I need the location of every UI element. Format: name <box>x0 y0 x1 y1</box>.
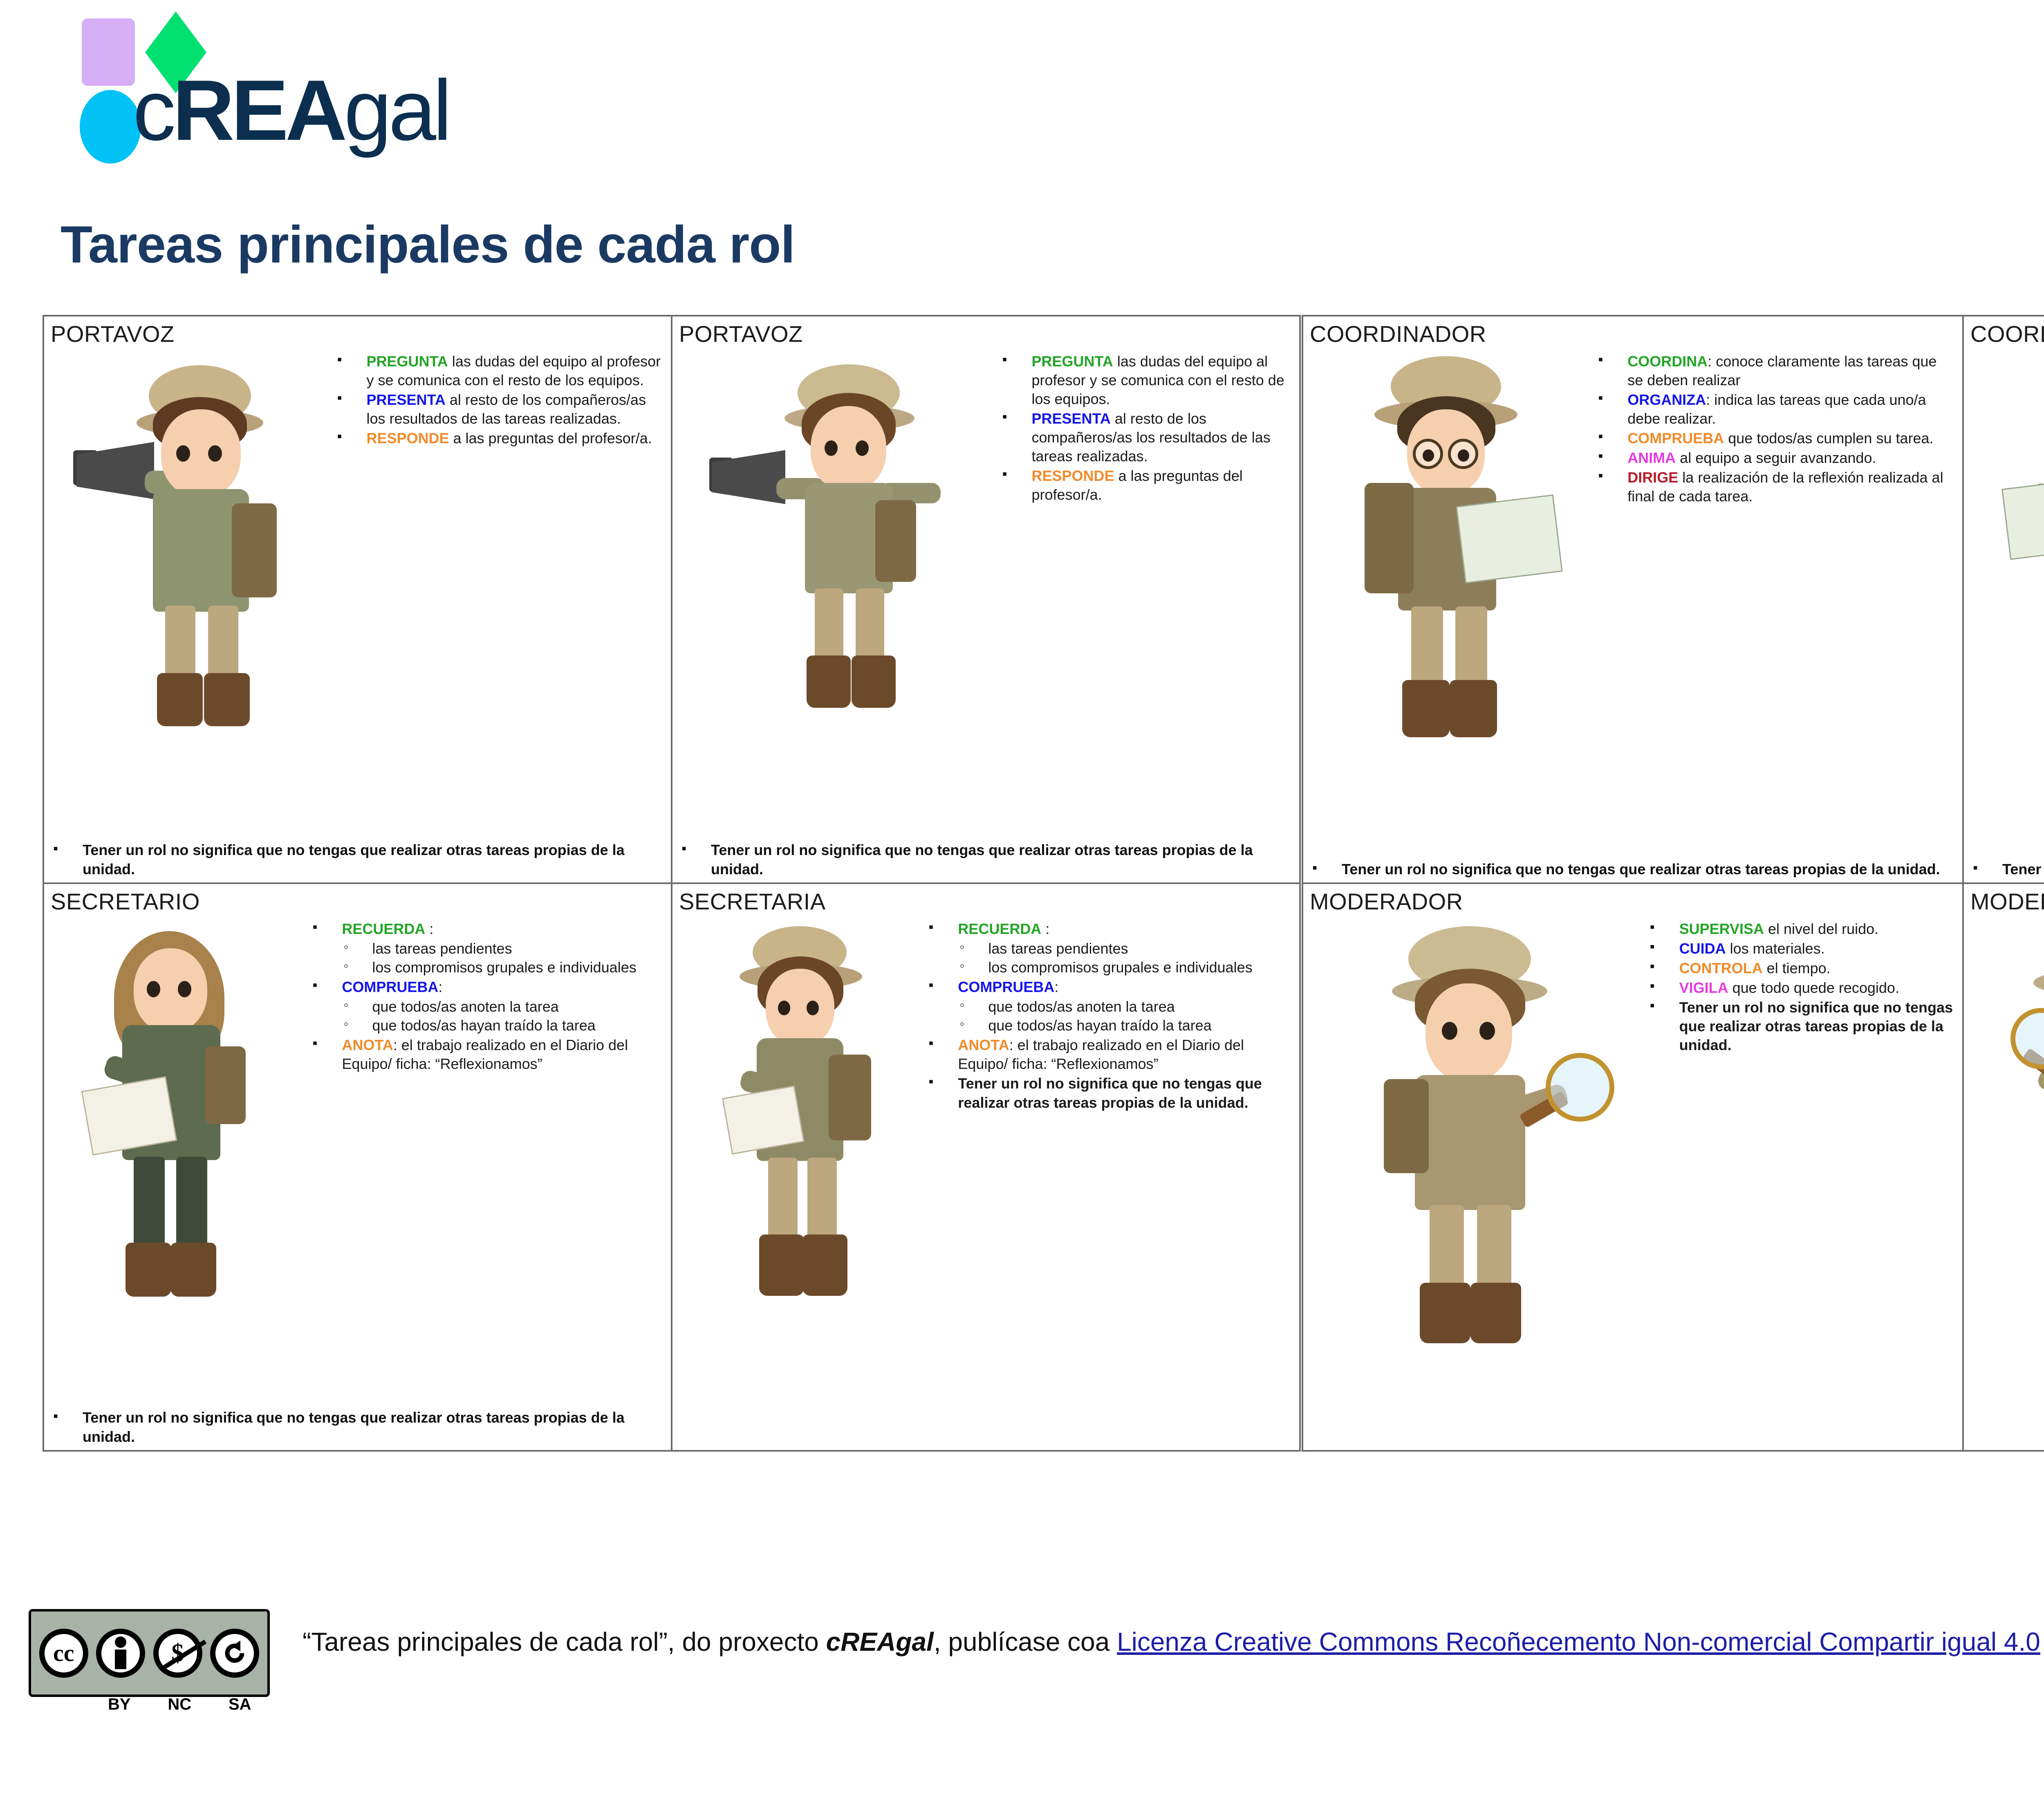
keyword: CUIDA <box>1679 940 1726 957</box>
keyword: ANOTA <box>342 1037 393 1053</box>
cc-label-nc: NC <box>168 1695 191 1714</box>
table-row: PORTAVOZ <box>44 316 1299 882</box>
cc-sublabels: CC BY NC SA <box>29 1695 270 1714</box>
task-text: al equipo a seguir avanzando. <box>1676 449 1876 466</box>
keyword: COMPRUEBA <box>342 979 438 995</box>
character-illustration-coordinadora <box>1970 348 2044 858</box>
role-task-list: RECUERDA : las tareas pendientes los com… <box>310 916 664 1407</box>
creagal-logo: cREAgal <box>61 8 495 127</box>
role-title: SECRETARIO <box>51 890 664 914</box>
by-person-icon <box>96 1629 145 1678</box>
keyword: PRESENTA <box>1032 410 1111 427</box>
role-footnote-inline: Tener un rol no significa que no tengas … <box>1647 998 1956 1055</box>
roles-table-left: PORTAVOZ <box>43 315 1301 1452</box>
list-item: RESPONDE a las preguntas del profesor/a. <box>1000 467 1293 504</box>
role-cell-portavoz-female[interactable]: PORTAVOZ <box>671 316 1299 882</box>
role-footnote-inline: Tener un rol no significa que no tengas … <box>926 1074 1293 1112</box>
role-cell-moderadora[interactable]: MODERADORA <box>1962 884 2044 1450</box>
keyword: ORGANIZA <box>1627 391 1706 408</box>
task-text: que todos/as cumplen su tarea. <box>1724 430 1933 447</box>
list-item: DIRIGE la realización de la reflexión re… <box>1596 468 1956 506</box>
list-item: ANOTA: el trabajo realizado en el Diario… <box>926 1036 1293 1073</box>
role-cell-moderador[interactable]: MODERADOR <box>1303 884 1962 1450</box>
list-item: RESPONDE a las preguntas del profesor/a. <box>334 429 664 448</box>
role-cell-coordinadora[interactable]: COORDINADORA <box>1962 316 2044 882</box>
page-title: Tareas principales de cada rol <box>61 219 795 271</box>
role-cell-secretaria[interactable]: SECRETARIA <box>671 884 1299 1450</box>
keyword: PREGUNTA <box>366 353 448 370</box>
task-text: : <box>1054 979 1058 995</box>
table-row: MODERADOR <box>1303 882 2044 1450</box>
keyword: RECUERDA <box>342 920 425 937</box>
list-item: PRESENTA al resto de los compañeros/as l… <box>1000 409 1293 466</box>
list-item: ORGANIZA: indica las tareas que cada uno… <box>1596 391 1956 428</box>
role-title: MODERADORA <box>1970 890 2044 914</box>
role-title: COORDINADORA <box>1970 322 2044 346</box>
task-text: : <box>1041 920 1049 937</box>
keyword: RECUERDA <box>958 920 1041 937</box>
list-item: PREGUNTA las dudas del equipo al profeso… <box>1000 352 1293 408</box>
sa-sharealike-icon <box>210 1629 259 1678</box>
list-item: RECUERDA : las tareas pendientes los com… <box>310 920 664 977</box>
list-item: los compromisos grupales e individuales <box>958 958 1293 977</box>
cc-icon: cc <box>39 1629 88 1678</box>
role-footnote: Tener un rol no significa que no tengas … <box>51 841 664 879</box>
role-footnote: Tener un rol no significa que no tengas … <box>679 841 1293 879</box>
task-text: a las preguntas del profesor/a. <box>449 430 652 447</box>
list-item: que todos/as hayan traído la tarea <box>342 1016 664 1035</box>
list-item: los compromisos grupales e individuales <box>342 958 664 977</box>
keyword: COORDINA <box>1627 353 1708 370</box>
task-text: : <box>438 979 442 995</box>
keyword: ANOTA <box>958 1037 1009 1053</box>
task-text: los materiales. <box>1726 940 1825 957</box>
logo-square-shape <box>82 18 135 86</box>
list-item: PRESENTA al resto de los compañeros/as l… <box>334 391 664 428</box>
character-illustration-portavoz-female <box>679 348 998 839</box>
license-link[interactable]: Licenza Creative Commons Recoñecemento N… <box>1117 1627 2040 1656</box>
creative-commons-badge: cc $ <box>29 1609 270 1697</box>
list-item: las tareas pendientes <box>958 939 1293 958</box>
list-item: VIGILA que todo quede recogido. <box>1647 979 1956 997</box>
list-item: PREGUNTA las dudas del equipo al profeso… <box>334 352 664 390</box>
list-item: ANOTA: el trabajo realizado en el Diario… <box>310 1036 664 1073</box>
list-item: las tareas pendientes <box>342 939 664 958</box>
task-text: que todo quede recogido. <box>1728 979 1899 996</box>
keyword: PREGUNTA <box>1032 353 1113 370</box>
role-footnote: Tener un rol no significa que no tengas … <box>1310 860 1956 879</box>
keyword: DIRIGE <box>1627 469 1678 486</box>
task-text: : <box>425 920 433 937</box>
list-item: que todos/as anoten la tarea <box>958 997 1293 1016</box>
role-title: SECRETARIA <box>679 890 1293 914</box>
list-item: que todos/as hayan traído la tarea <box>958 1016 1293 1035</box>
character-illustration-moderador <box>1310 916 1646 1447</box>
list-item: SUPERVISA el nivel del ruido. <box>1647 920 1956 938</box>
cc-label-sa: SA <box>229 1695 251 1714</box>
keyword: CONTROLA <box>1679 960 1763 976</box>
character-illustration-coordinador <box>1310 348 1594 858</box>
role-task-list: COORDINA: conoce claramente las tareas q… <box>1596 348 1956 858</box>
task-text: el tiempo. <box>1763 960 1831 976</box>
list-item: CUIDA los materiales. <box>1647 939 1956 958</box>
role-cell-portavoz-male[interactable]: PORTAVOZ <box>44 316 671 882</box>
role-title: COORDINADOR <box>1310 322 1956 346</box>
keyword: SUPERVISA <box>1679 920 1764 937</box>
list-item: COORDINA: conoce claramente las tareas q… <box>1596 352 1956 390</box>
list-item: COMPRUEBA: que todos/as anoten la tarea … <box>926 978 1293 1035</box>
roles-table-right: COORDINADOR <box>1302 315 2044 1452</box>
keyword: PRESENTA <box>366 391 445 408</box>
keyword: RESPONDE <box>1032 467 1114 484</box>
license-statement: “Tareas principales de cada rol”, do pro… <box>303 1625 2044 1658</box>
role-footnote: Tener un rol no significa que no tengas … <box>1970 860 2044 879</box>
role-task-list: SUPERVISA el nivel del ruido. CUIDA los … <box>1647 916 1956 1447</box>
keyword: RESPONDE <box>366 430 449 447</box>
cc-label-by: BY <box>108 1695 131 1714</box>
list-item: que todos/as anoten la tarea <box>342 997 664 1016</box>
character-illustration-portavoz-male <box>51 348 333 839</box>
roles-grid: PORTAVOZ <box>43 315 2044 1452</box>
license-prefix: “Tareas principales de cada rol”, do pro… <box>303 1627 826 1656</box>
logo-wordmark: cREAgal <box>133 67 449 153</box>
keyword: ANIMA <box>1627 449 1676 466</box>
role-footnote: Tener un rol no significa que no tengas … <box>51 1408 664 1447</box>
role-title: PORTAVOZ <box>679 322 1293 346</box>
table-row: SECRETARIO <box>44 882 1299 1450</box>
role-title: PORTAVOZ <box>51 322 664 346</box>
list-item: COMPRUEBA que todos/as cumplen su tarea. <box>1596 429 1956 448</box>
logo-circle-shape <box>80 90 141 164</box>
list-item: COMPRUEBA: que todos/as anoten la tarea … <box>310 978 664 1035</box>
license-mid: , publícase coa <box>934 1627 1117 1656</box>
list-item: ANIMA al equipo a seguir avanzando. <box>1596 449 1956 467</box>
role-cell-coordinador[interactable]: COORDINADOR <box>1303 316 1962 882</box>
role-task-list: PREGUNTA las dudas del equipo al profeso… <box>334 348 664 839</box>
keyword: COMPRUEBA <box>1627 430 1724 447</box>
keyword: VIGILA <box>1679 979 1728 996</box>
task-text: el nivel del ruido. <box>1764 920 1878 937</box>
role-task-list: PREGUNTA las dudas del equipo al profeso… <box>1000 348 1293 839</box>
keyword: COMPRUEBA <box>958 979 1054 995</box>
cc-icon-label: cc <box>53 1641 74 1665</box>
list-item: CONTROLA el tiempo. <box>1647 959 1956 978</box>
nc-nocommercial-icon: $ <box>153 1629 202 1678</box>
role-cell-secretario[interactable]: SECRETARIO <box>44 884 671 1450</box>
character-illustration-moderadora <box>1970 916 2044 1447</box>
project-name: cREAgal <box>826 1627 934 1656</box>
list-item: RECUERDA : las tareas pendientes los com… <box>926 920 1293 977</box>
role-title: MODERADOR <box>1310 890 1956 914</box>
character-illustration-secretaria <box>679 916 924 1447</box>
table-row: COORDINADOR <box>1303 316 2044 882</box>
character-illustration-secretario <box>51 916 308 1407</box>
role-task-list: RECUERDA : las tareas pendientes los com… <box>926 916 1293 1447</box>
